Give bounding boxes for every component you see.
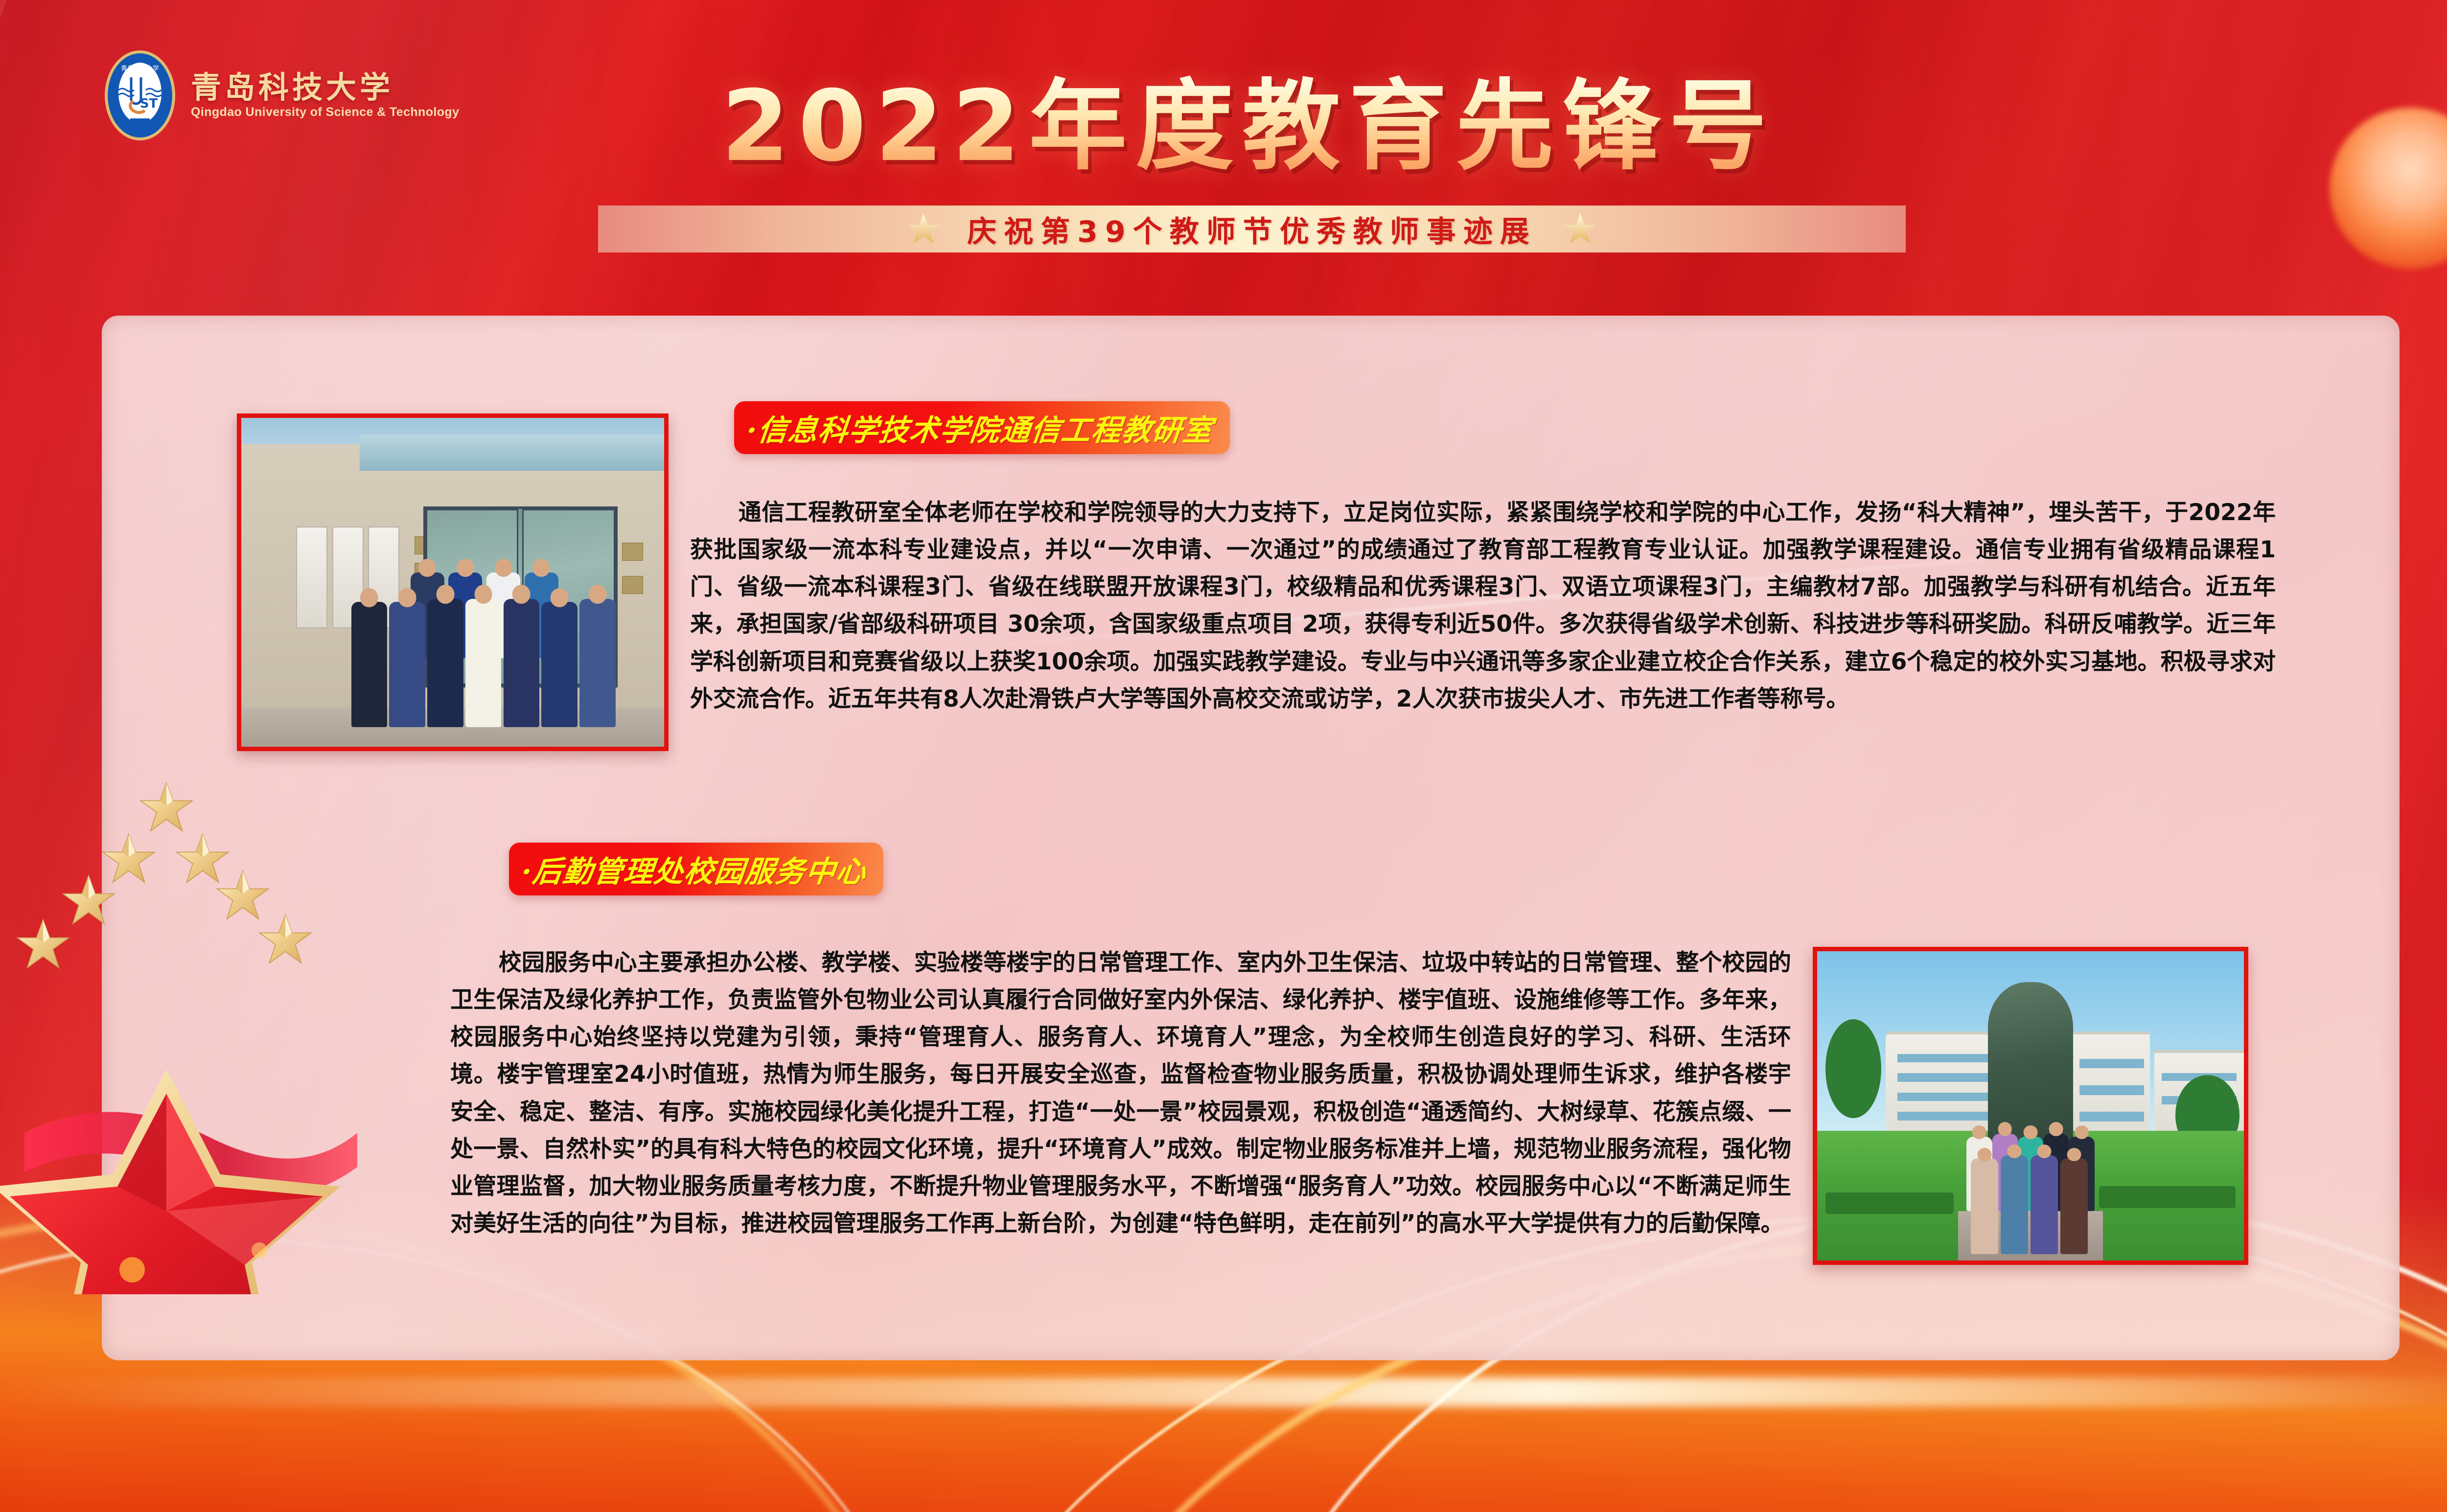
section-body-communication-engineering: 通信工程教研室全体老师在学校和学院领导的大力支持下，立足岗位实际，紧紧围绕学校和… bbox=[690, 494, 2276, 718]
section-heading-communication-engineering: ·信息科学技术学院通信工程教研室 bbox=[734, 401, 1230, 454]
poster-header: 青岛科技大学 ST 1950 青岛科技大学 Qingdao University… bbox=[0, 0, 2447, 294]
poster-subtitle-ribbon: 庆祝第39个教师节优秀教师事迹展 bbox=[598, 206, 1906, 252]
section-body-campus-service-center: 校园服务中心主要承担办公楼、教学楼、实验楼等楼宇的日常管理工作、室内外卫生保洁、… bbox=[450, 944, 1791, 1242]
section-heading-campus-service-center: ·后勤管理处校园服务中心 bbox=[509, 843, 883, 895]
poster-canvas: 青岛科技大学 ST 1950 青岛科技大学 Qingdao University… bbox=[0, 0, 2447, 1512]
section-heading-label: ·后勤管理处校园服务中心 bbox=[519, 848, 869, 891]
star-icon bbox=[1563, 212, 1597, 246]
section-heading-label: ·信息科学技术学院通信工程教研室 bbox=[744, 407, 1215, 449]
poster-subtitle: 庆祝第39个教师节优秀教师事迹展 bbox=[967, 208, 1537, 251]
communication-engineering-group-photo bbox=[237, 413, 669, 751]
campus-service-center-group-photo bbox=[1813, 947, 2248, 1265]
star-icon bbox=[906, 212, 941, 246]
poster-title: 2022年度教育先锋号 bbox=[0, 46, 2447, 188]
bottom-light-band bbox=[0, 1377, 2447, 1407]
five-pointed-star-emblem-icon bbox=[0, 756, 357, 1294]
